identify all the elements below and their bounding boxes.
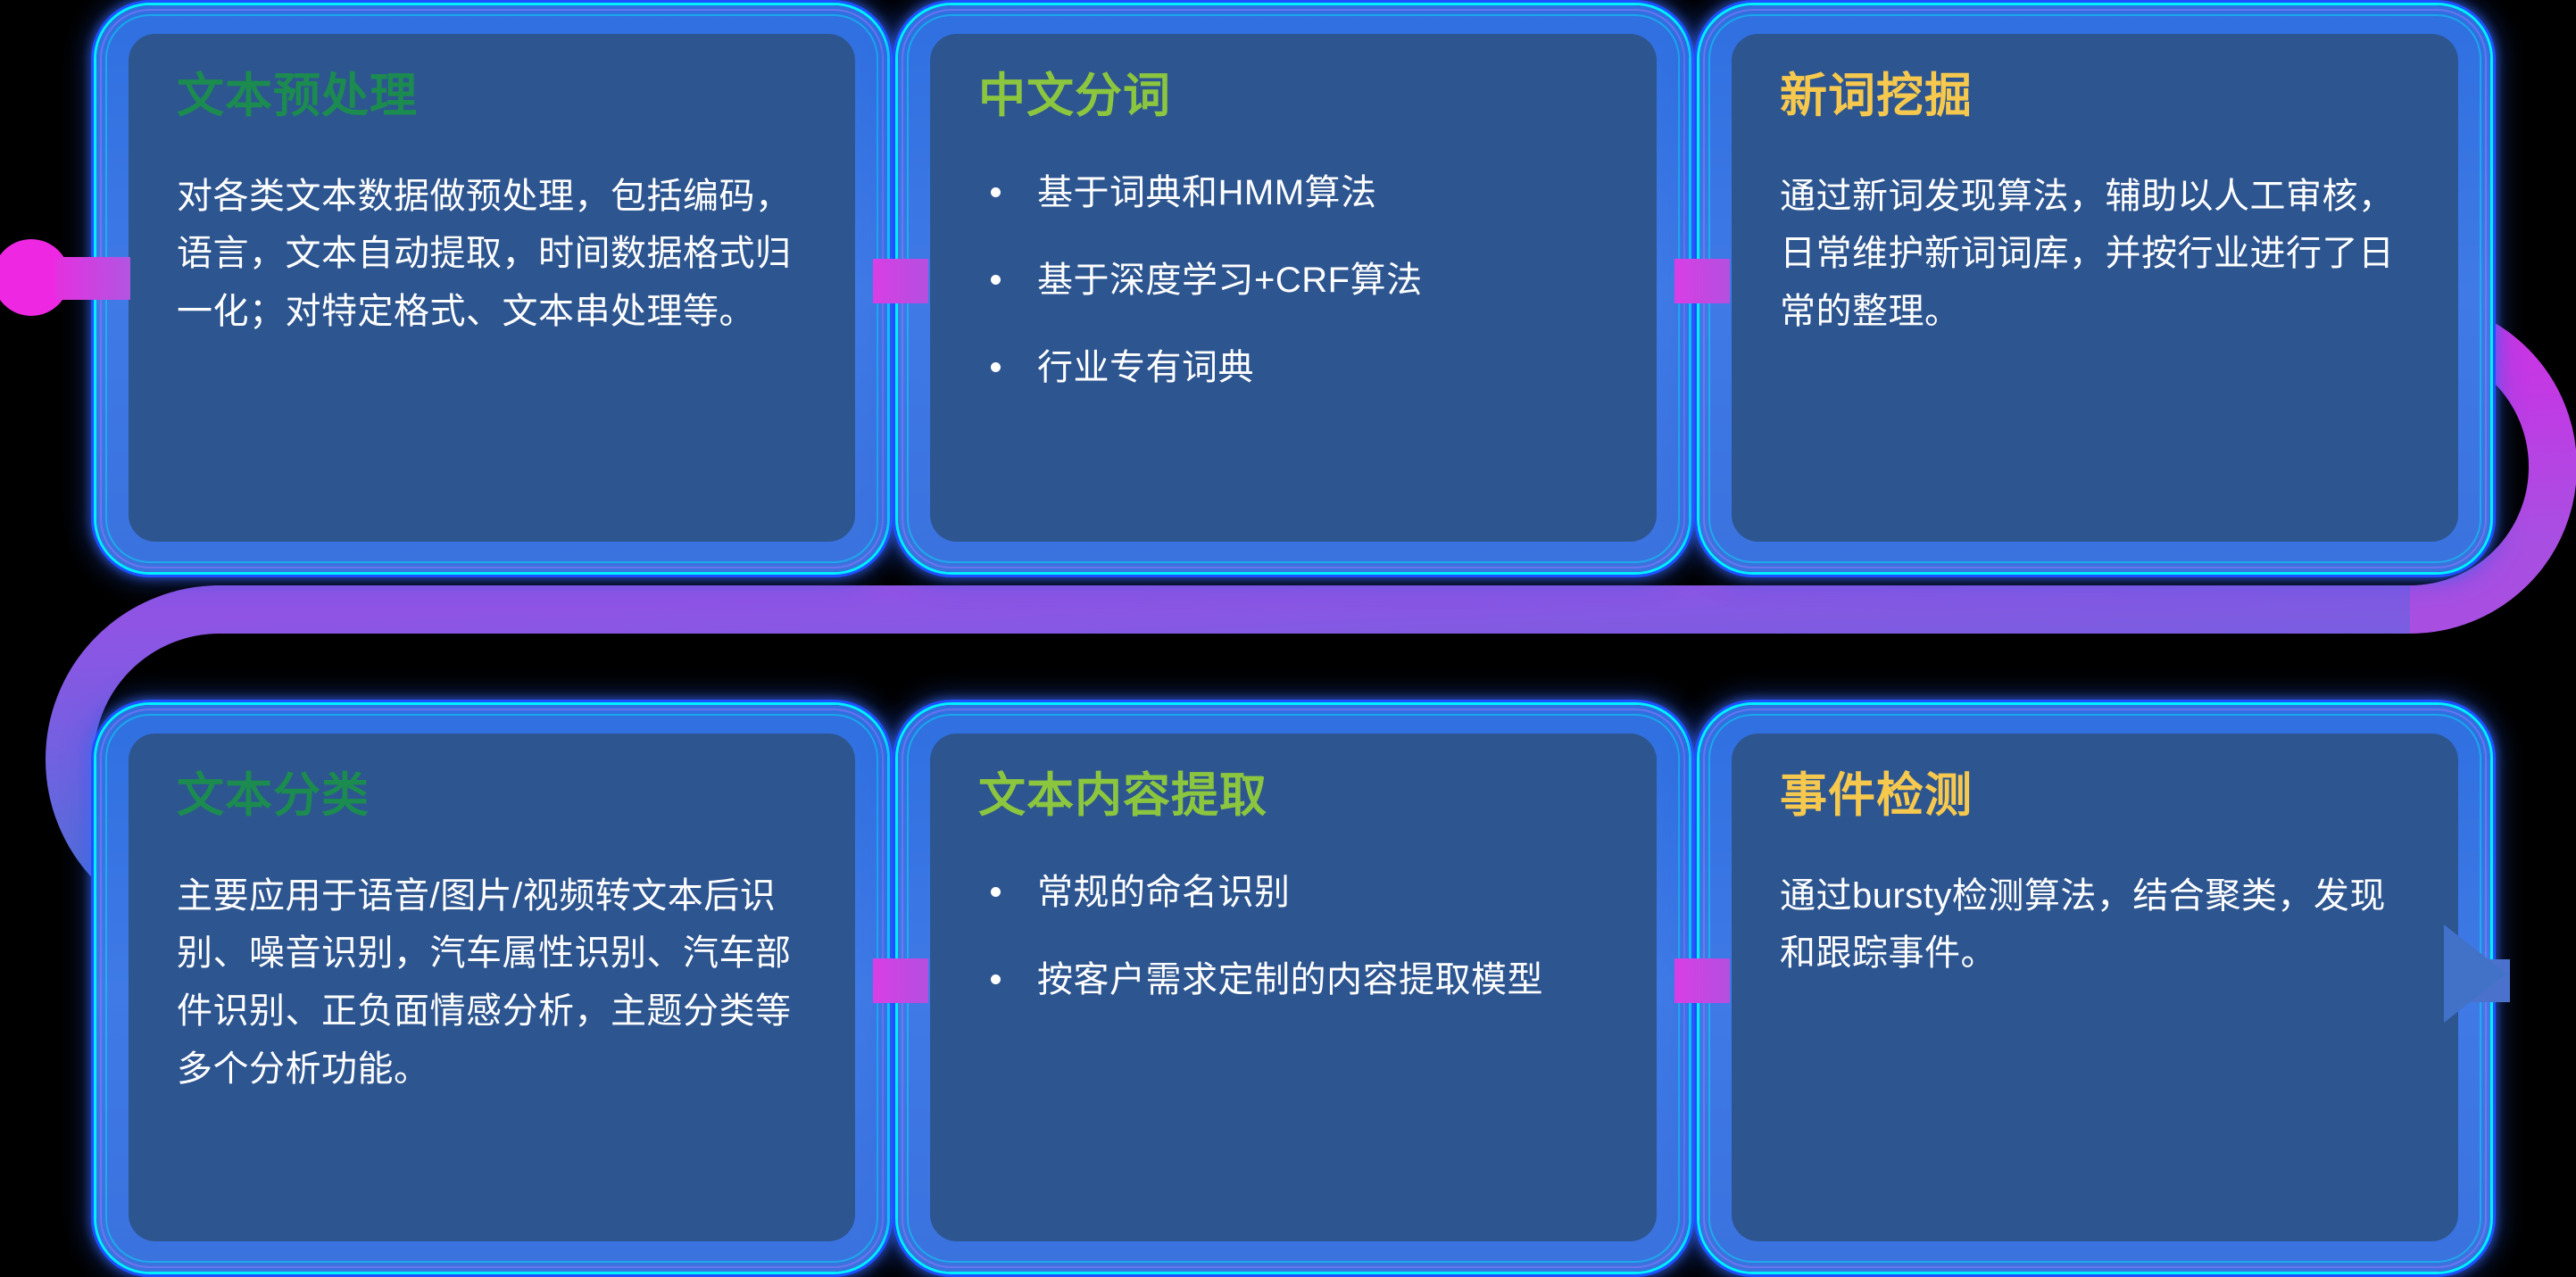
list-item: 基于深度学习+CRF算法 (978, 255, 1608, 305)
diagram-canvas: 文本预处理 对各类文本数据做预处理，包括编码，语言，文本自动提取，时间数据格式归… (0, 0, 2576, 1277)
process-card-text-classification[interactable]: 文本分类 主要应用于语音/图片/视频转文本后识别、噪音识别，汽车属性识别、汽车部… (96, 705, 887, 1272)
card-panel: 文本内容提取 常规的命名识别 按客户需求定制的内容提取模型 (930, 734, 1657, 1241)
card-body-text: 通过bursty检测算法，结合聚类，发现和跟踪事件。 (1780, 867, 2410, 983)
card-title: 新词挖掘 (1780, 71, 2410, 121)
card-panel: 文本分类 主要应用于语音/图片/视频转文本后识别、噪音识别，汽车属性识别、汽车部… (129, 734, 855, 1241)
process-row-1: 文本预处理 对各类文本数据做预处理，包括编码，语言，文本自动提取，时间数据格式归… (96, 5, 2490, 572)
process-row-2: 文本分类 主要应用于语音/图片/视频转文本后识别、噪音识别，汽车属性识别、汽车部… (96, 705, 2490, 1272)
card-connector-5-6 (1674, 958, 1730, 1003)
process-card-new-word-mining[interactable]: 新词挖掘 通过新词发现算法，辅助以人工审核，日常维护新词词库，并按行业进行了日常… (1699, 5, 2490, 572)
process-card-event-detection[interactable]: 事件检测 通过bursty检测算法，结合聚类，发现和跟踪事件。 (1699, 705, 2490, 1272)
card-connector-4-5 (873, 958, 928, 1003)
card-panel: 中文分词 基于词典和HMM算法 基于深度学习+CRF算法 行业专有词典 (930, 34, 1657, 542)
process-card-text-preprocessing[interactable]: 文本预处理 对各类文本数据做预处理，包括编码，语言，文本自动提取，时间数据格式归… (96, 5, 887, 572)
card-panel: 事件检测 通过bursty检测算法，结合聚类，发现和跟踪事件。 (1732, 734, 2458, 1241)
arrow-right-icon (2444, 925, 2506, 1023)
card-title: 文本分类 (177, 771, 807, 821)
list-item: 行业专有词典 (978, 343, 1608, 393)
process-card-content-extraction[interactable]: 文本内容提取 常规的命名识别 按客户需求定制的内容提取模型 (898, 705, 1689, 1272)
card-body-text: 主要应用于语音/图片/视频转文本后识别、噪音识别，汽车属性识别、汽车部件识别、正… (177, 867, 807, 1099)
card-title: 文本预处理 (177, 71, 807, 121)
card-title: 事件检测 (1780, 771, 2410, 821)
start-connector-bar (55, 257, 130, 300)
card-body-text: 对各类文本数据做预处理，包括编码，语言，文本自动提取，时间数据格式归一化；对特定… (177, 168, 807, 341)
list-item: 按客户需求定制的内容提取模型 (978, 955, 1608, 1005)
card-connector-2-3 (1674, 259, 1730, 303)
card-panel: 新词挖掘 通过新词发现算法，辅助以人工审核，日常维护新词词库，并按行业进行了日常… (1732, 34, 2458, 542)
list-item: 基于词典和HMM算法 (978, 168, 1608, 218)
list-item: 常规的命名识别 (978, 867, 1608, 917)
card-title: 中文分词 (978, 71, 1608, 121)
process-card-chinese-segmentation[interactable]: 中文分词 基于词典和HMM算法 基于深度学习+CRF算法 行业专有词典 (898, 5, 1689, 572)
card-bullet-list: 基于词典和HMM算法 基于深度学习+CRF算法 行业专有词典 (978, 168, 1608, 393)
card-bullet-list: 常规的命名识别 按客户需求定制的内容提取模型 (978, 867, 1608, 1005)
card-body-text: 通过新词发现算法，辅助以人工审核，日常维护新词词库，并按行业进行了日常的整理。 (1780, 168, 2410, 341)
card-panel: 文本预处理 对各类文本数据做预处理，包括编码，语言，文本自动提取，时间数据格式归… (129, 34, 855, 542)
card-title: 文本内容提取 (978, 771, 1608, 821)
card-connector-1-2 (873, 259, 928, 303)
